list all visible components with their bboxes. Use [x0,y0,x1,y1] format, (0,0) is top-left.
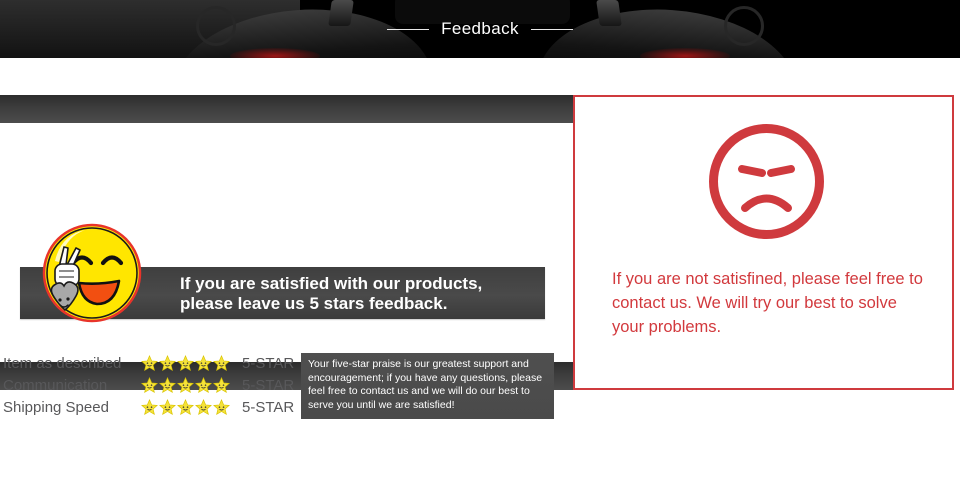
rating-row: Item as described 5-STAR [3,352,294,374]
star-icon [159,377,176,394]
rating-label: Shipping Speed [3,399,141,416]
star-icon [177,399,194,416]
ratings-list: Item as described 5-STAR Communication 5… [3,352,294,418]
rating-label: Item as described [3,355,141,372]
star-icon [177,355,194,372]
star-icon [141,399,158,416]
rating-row: Communication 5-STAR [3,374,294,396]
header-rule-left [387,29,429,30]
satisfied-panel: If you are satisfied with our products, … [0,95,573,390]
rating-row: Shipping Speed 5-STAR [3,396,294,418]
rating-value: 5-STAR [242,399,294,416]
star-icon [159,355,176,372]
star-icon [195,355,212,372]
sad-face-icon [704,119,829,244]
header-title-group: Feedback [0,0,960,58]
star-icon [159,399,176,416]
star-icon [213,355,230,372]
star-icon [141,377,158,394]
star-icon [195,399,212,416]
rating-value: 5-STAR [242,355,294,372]
panel-top-bar [0,95,573,123]
star-icon [177,377,194,394]
header-banner: Feedback [0,0,960,58]
star-icon [213,377,230,394]
rating-value: 5-STAR [242,377,294,394]
unsatisfied-panel: If you are not satisfined, please feel f… [573,95,954,390]
star-icon [141,355,158,372]
rating-stars [141,377,236,394]
star-icon [195,377,212,394]
rating-label: Communication [3,377,141,394]
star-icon [213,399,230,416]
header-rule-right [531,29,573,30]
praise-note: Your five-star praise is our greatest su… [301,353,554,419]
rating-stars [141,399,236,416]
unsatisfied-message: If you are not satisfined, please feel f… [612,267,932,339]
satisfied-banner-text: If you are satisfied with our products, … [180,274,535,314]
page-title: Feedback [441,19,519,39]
smiley-peace-face-icon [35,221,143,329]
rating-stars [141,355,236,372]
